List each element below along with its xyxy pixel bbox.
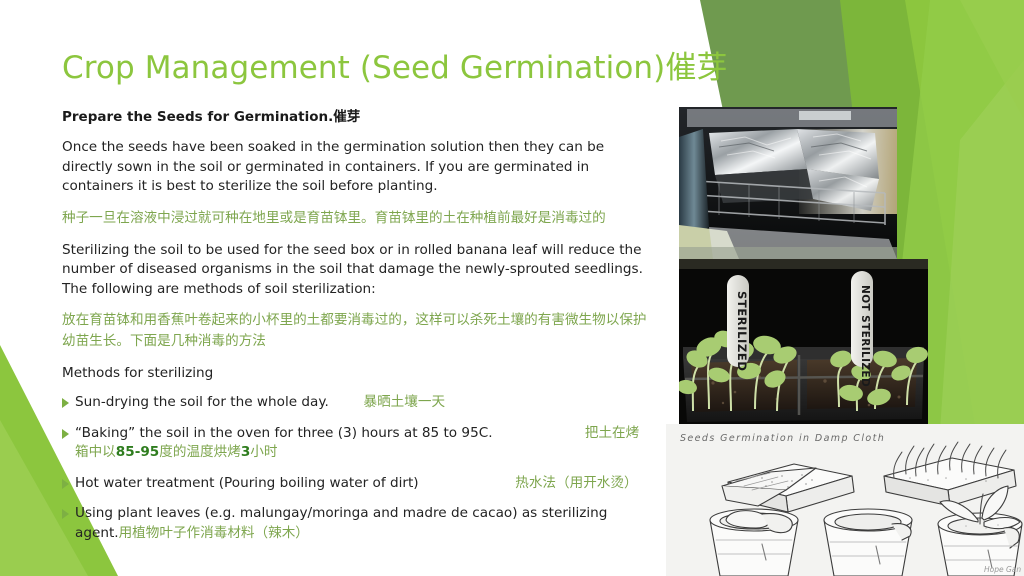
bullet-text-chinese-bold: 85-95: [116, 444, 159, 460]
bullet-text: Sun-drying the soil for the whole day.: [75, 394, 329, 410]
paragraph-english-2: Sterilizing the soil to be used for the …: [62, 241, 650, 300]
bullet-text-chinese-tail-2: 小时: [250, 444, 277, 460]
deco-shape-corner-topright: [960, 0, 1024, 120]
tag-sterilized: STERILIZED: [727, 275, 749, 371]
bullet-text-chinese: 热水法（用开水烫）: [515, 475, 637, 491]
sketch-caption: Seeds Germination in Damp Cloth: [680, 433, 885, 444]
bullet-text-chinese-tail: 度的温度烘烤: [159, 444, 241, 460]
bullet-text: Hot water treatment (Pouring boiling wat…: [75, 475, 419, 491]
sketch-signature: Hope Gan: [984, 565, 1021, 574]
paragraph-english-1: Once the seeds have been soaked in the g…: [62, 138, 650, 197]
triangle-bullet-icon: [62, 509, 69, 519]
bullet-text-chinese: 暴晒土壤一天: [363, 394, 445, 410]
triangle-bullet-icon: [62, 398, 69, 408]
sterilized-vs-not-sterilized-seedlings-photo: STERILIZED NOT STERILIZED: [679, 259, 928, 428]
methods-heading: Methods for sterilizing: [62, 364, 650, 383]
bullet-text-chinese-bold-2: 3: [241, 444, 250, 460]
list-item: Sun-drying the soil for the whole day. 暴…: [62, 393, 650, 413]
page-title: Crop Management (Seed Germination)催芽: [62, 48, 762, 88]
tag-label-not-sterilized: NOT STERILIZED: [859, 285, 871, 387]
triangle-bullet-icon: [62, 429, 69, 439]
list-item: “Baking” the soil in the oven for three …: [62, 424, 650, 463]
section-lead: Prepare the Seeds for Germination.催芽: [62, 108, 650, 127]
content-column: Prepare the Seeds for Germination.催芽 Onc…: [62, 108, 650, 554]
slide-canvas: Crop Management (Seed Germination)催芽 Pre…: [0, 0, 1024, 576]
paragraph-chinese-1: 种子一旦在溶液中浸过就可种在地里或是育苗钵里。育苗钵里的土在种植前最好是消毒过的: [62, 208, 650, 229]
triangle-bullet-icon: [62, 479, 69, 489]
bullet-text: “Baking” the soil in the oven for three …: [75, 425, 493, 441]
seed-germination-damp-cloth-sketch: Seeds Germination in Damp Cloth: [666, 424, 1024, 576]
list-item: Using plant leaves (e.g. malungay/moring…: [62, 504, 650, 543]
tag-label-sterilized: STERILIZED: [735, 291, 749, 371]
list-item: Hot water treatment (Pouring boiling wat…: [62, 474, 650, 494]
oven-with-foil-trays-photo: [679, 107, 897, 259]
bullet-text-chinese: 用植物叶子作消毒材料（辣木）: [119, 525, 309, 541]
paragraph-chinese-2: 放在育苗钵和用香蕉叶卷起来的小杯里的土都要消毒过的，这样可以杀死土壤的有害微生物…: [62, 310, 650, 352]
